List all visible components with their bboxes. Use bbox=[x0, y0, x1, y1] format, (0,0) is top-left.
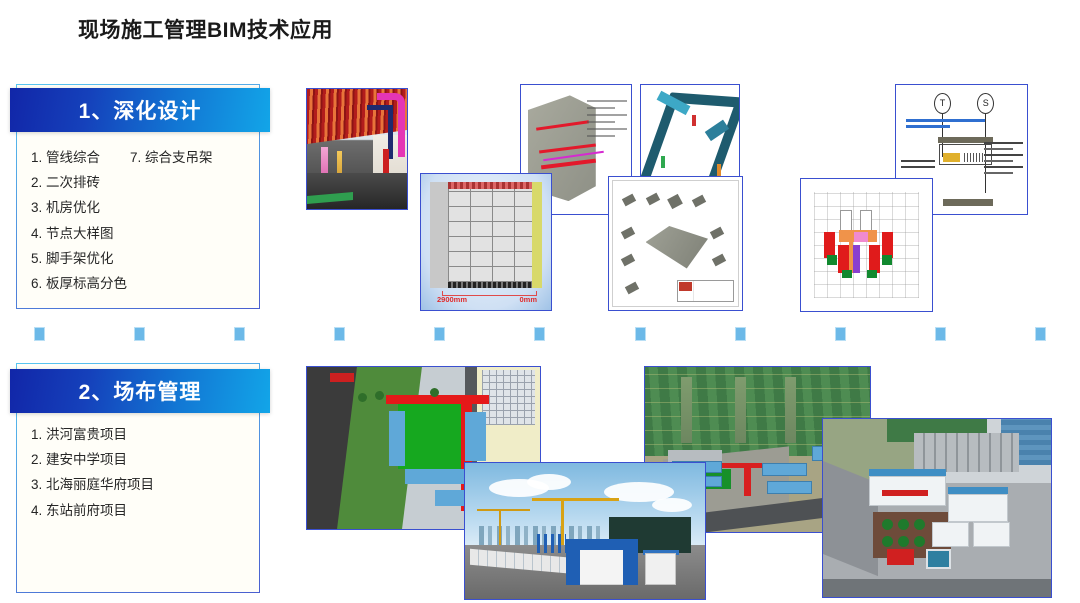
annotation-notes-right bbox=[984, 142, 1023, 178]
exploded-part bbox=[621, 254, 635, 267]
exploded-part bbox=[667, 194, 683, 209]
duct-accessory-green bbox=[661, 156, 665, 168]
tower-crane-jib bbox=[532, 498, 618, 501]
plan-zone-red bbox=[869, 245, 880, 273]
site-building bbox=[389, 411, 405, 466]
plan-zone-green bbox=[867, 270, 877, 278]
grid-bubble-s: S bbox=[977, 93, 994, 114]
dimension-label-left: 2900mm bbox=[437, 295, 467, 304]
guard-booth bbox=[645, 553, 676, 586]
divider-square bbox=[1035, 327, 1046, 341]
aerial-tower bbox=[681, 377, 692, 443]
site-building bbox=[465, 412, 486, 461]
duct-accessory-orange bbox=[717, 164, 721, 176]
list-item: 4. 东站前府项目 bbox=[31, 502, 259, 520]
exploded-part bbox=[624, 281, 638, 294]
divider-square bbox=[735, 327, 746, 341]
image-mep-corridor-photo bbox=[306, 88, 408, 210]
list-item-label: 4. 东站前府项目 bbox=[31, 502, 127, 520]
gate-pillar bbox=[566, 547, 580, 585]
drawing-blue-title bbox=[906, 119, 985, 131]
aerial-office-unit bbox=[762, 463, 807, 476]
exploded-part bbox=[709, 226, 723, 239]
camp-main-building bbox=[914, 433, 1019, 472]
exploded-part bbox=[646, 192, 660, 205]
plan-zone-orange bbox=[849, 242, 853, 272]
plan-zone-green bbox=[882, 255, 892, 265]
drawing-sheet bbox=[804, 182, 929, 308]
divider-square bbox=[334, 327, 345, 341]
camp-dormitory-unit bbox=[973, 522, 1009, 547]
plan-zone-red bbox=[882, 232, 893, 257]
dimension-line-group: 2900mm 0mm bbox=[433, 290, 541, 306]
aerial-tower bbox=[785, 377, 796, 443]
brick-bottom-course bbox=[448, 282, 532, 288]
dimension-labels: 2900mm 0mm bbox=[433, 295, 541, 304]
divider-square bbox=[835, 327, 846, 341]
site-building bbox=[405, 469, 466, 484]
duct-accessory-red bbox=[692, 115, 696, 126]
image-brick-layout-drawing: 2900mm 0mm bbox=[420, 173, 552, 311]
aerial-tower bbox=[735, 377, 746, 443]
image-colored-floor-plan bbox=[800, 178, 933, 312]
image-site-camp-3d-render bbox=[822, 418, 1052, 598]
brick-courses bbox=[448, 189, 532, 281]
cloud bbox=[527, 474, 571, 490]
site-green-block bbox=[398, 404, 463, 469]
list-item: 3. 机房优化 bbox=[31, 199, 259, 217]
divider-square bbox=[134, 327, 145, 341]
divider-squares bbox=[34, 327, 1046, 341]
section-header-site-layout-management: 2、场布管理 bbox=[10, 369, 270, 413]
section-header-deepening-design: 1、深化设计 bbox=[10, 88, 270, 132]
list-item-label: 1. 洪河富贵项目 bbox=[31, 426, 127, 444]
gate-pillar bbox=[623, 547, 637, 585]
list-item-label: 1. 管线综合 bbox=[31, 149, 100, 167]
list-item: 1. 管线综合 7. 综合支吊架 bbox=[31, 149, 259, 167]
exploded-part bbox=[712, 254, 726, 267]
divider-square bbox=[34, 327, 45, 341]
drawing-title-block bbox=[677, 280, 735, 303]
list-item: 3. 北海丽庭华府项目 bbox=[31, 476, 259, 494]
divider-square bbox=[234, 327, 245, 341]
aerial-red-route bbox=[744, 463, 751, 496]
list-item-label: 7. 综合支吊架 bbox=[130, 149, 213, 167]
list-item-label: 2. 建安中学项目 bbox=[31, 451, 127, 469]
annotation-leader-lines bbox=[587, 100, 627, 159]
plan-zone-red bbox=[838, 245, 849, 273]
image-site-gate-rendering bbox=[464, 462, 706, 600]
list-item: 6. 板厚标高分色 bbox=[31, 275, 259, 293]
divider-square bbox=[534, 327, 545, 341]
divider-square bbox=[635, 327, 646, 341]
plan-zone-green bbox=[827, 255, 837, 265]
site-tree bbox=[375, 391, 384, 400]
list-item: 2. 二次排砖 bbox=[31, 174, 259, 192]
brick-top-course bbox=[448, 182, 532, 189]
site-hatched-area bbox=[482, 370, 536, 425]
list-item-label: 3. 机房优化 bbox=[31, 199, 100, 217]
dimension-label-right: 0mm bbox=[519, 295, 537, 304]
section-list-deepening-design: 1. 管线综合 7. 综合支吊架 2. 二次排砖 3. 机房优化 4. 节点大样… bbox=[17, 137, 259, 293]
annotation-notes-left bbox=[901, 160, 935, 172]
camp-dormitory-unit bbox=[948, 494, 1007, 522]
image-equipment-exploded-drawing bbox=[608, 176, 743, 311]
site-marker bbox=[330, 373, 353, 381]
ground-line bbox=[943, 199, 993, 206]
plan-zone-red bbox=[824, 232, 835, 257]
camp-road bbox=[823, 579, 1051, 597]
list-item-label: 3. 北海丽庭华府项目 bbox=[31, 476, 154, 494]
mep-floor bbox=[307, 173, 407, 209]
brick-sheet bbox=[430, 182, 542, 288]
brick-wall-column bbox=[430, 182, 448, 288]
exploded-part bbox=[621, 226, 635, 239]
company-logo bbox=[679, 282, 692, 291]
section-list-site-layout-management: 1. 洪河富贵项目 2. 建安中学项目 3. 北海丽庭华府项目 4. 东站前府项… bbox=[17, 414, 259, 520]
mep-pipe-blue bbox=[367, 105, 393, 159]
grid-bubble-t: T bbox=[934, 93, 951, 114]
section-header-label: 2、场布管理 bbox=[79, 376, 202, 406]
list-item: 1. 洪河富贵项目 bbox=[31, 426, 259, 444]
camp-info-screen bbox=[926, 549, 951, 569]
drawing-sheet bbox=[612, 180, 739, 307]
camp-banner-red bbox=[882, 490, 928, 495]
list-item: 2. 建安中学项目 bbox=[31, 451, 259, 469]
camp-dormitory-unit bbox=[932, 522, 968, 547]
list-item-label: 2. 二次排砖 bbox=[31, 174, 100, 192]
brick-insulation bbox=[532, 182, 542, 288]
section-header-label: 1、深化设计 bbox=[79, 95, 202, 125]
equipment-assembly bbox=[646, 226, 709, 269]
camp-gate-red bbox=[887, 549, 914, 565]
list-item-label: 4. 节点大样图 bbox=[31, 225, 114, 243]
camp-tree bbox=[898, 519, 909, 530]
plan-zone-purple bbox=[853, 245, 861, 273]
divider-square bbox=[935, 327, 946, 341]
camp-tree bbox=[914, 519, 925, 530]
tower-crane-secondary bbox=[499, 509, 501, 544]
site-red-route bbox=[386, 395, 489, 405]
camp-tree bbox=[882, 519, 893, 530]
list-item: 5. 脚手架优化 bbox=[31, 250, 259, 268]
detail-fill-yellow bbox=[943, 153, 960, 162]
tower-crane-jib bbox=[477, 509, 530, 511]
plan-zone-pink bbox=[854, 232, 868, 242]
list-item-label: 5. 脚手架优化 bbox=[31, 250, 114, 268]
exploded-part bbox=[622, 194, 636, 207]
exploded-part bbox=[692, 195, 706, 208]
list-item-label: 6. 板厚标高分色 bbox=[31, 275, 127, 293]
aerial-office-unit bbox=[767, 481, 812, 494]
page-title: 现场施工管理BIM技术应用 bbox=[78, 14, 333, 44]
list-item: 4. 节点大样图 bbox=[31, 225, 259, 243]
plan-zone-green bbox=[842, 270, 852, 278]
divider-square bbox=[434, 327, 445, 341]
gate-flag-row bbox=[537, 534, 566, 553]
